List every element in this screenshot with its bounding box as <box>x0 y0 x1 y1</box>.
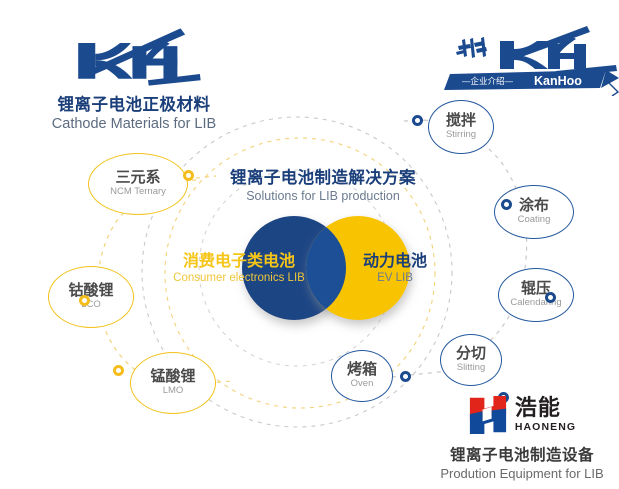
node-slitting-cn: 分切 <box>456 346 486 362</box>
node-coating-cn: 涂布 <box>519 198 549 214</box>
node-coating-en: Coating <box>518 215 551 225</box>
dot-materials-2 <box>79 295 90 306</box>
node-ncm-ternary[interactable]: 三元系 NCM Ternary <box>88 153 188 215</box>
node-slitting[interactable]: 分切 Slitting <box>440 334 502 386</box>
node-stirring[interactable]: 搅拌 Stirring <box>428 100 494 154</box>
node-slitting-en: Slitting <box>457 363 486 373</box>
kanhoo-logo-icon: —企业介绍— KanHoo <box>440 20 619 96</box>
kh-title-en: Cathode Materials for LIB <box>34 116 234 132</box>
node-calendaring[interactable]: 辊压 Calendaring <box>498 268 574 322</box>
kanhoo-ribbon-label: —企业介绍— <box>462 76 514 86</box>
node-lco[interactable]: 钴酸锂 LCO <box>48 266 134 328</box>
dot-process-5 <box>400 371 411 382</box>
node-oven-en: Oven <box>351 379 374 389</box>
haoneng-logo-icon <box>468 396 508 434</box>
node-oven-cn: 烤箱 <box>347 362 377 378</box>
node-ncm-cn: 三元系 <box>115 170 160 186</box>
haoneng-mark-cn: 浩能 <box>515 397 576 419</box>
haoneng-title-en: Prodution Equipment for LIB <box>432 466 612 481</box>
haoneng-mark-en: HAONENG <box>515 421 576 433</box>
dot-materials-3 <box>113 365 124 376</box>
slide-canvas: 锂离子电池正极材料 Cathode Materials for LIB <box>0 0 619 489</box>
venn-consumer-en: Consumer electronics LIB <box>164 272 314 284</box>
dot-process-2 <box>501 199 512 210</box>
dot-materials-1 <box>183 170 194 181</box>
dot-process-1 <box>412 115 423 126</box>
center-title-block: 锂离子电池制造解决方案 Solutions for LIB production <box>208 164 438 203</box>
node-lmo-cn: 锰酸锂 <box>150 369 195 385</box>
venn-label-ev: 动力电池 EV LIB <box>345 247 445 284</box>
center-title-en: Solutions for LIB production <box>208 189 438 203</box>
kh-title-cn: 锂离子电池正极材料 <box>34 91 234 115</box>
kanhoo-brand-name: KanHoo <box>534 74 582 88</box>
kanhoo-banner: —企业介绍— KanHoo <box>440 20 619 96</box>
kh-brand-block: 锂离子电池正极材料 Cathode Materials for LIB <box>34 26 234 132</box>
node-ncm-en: NCM Ternary <box>110 187 166 197</box>
venn-consumer-cn: 消费电子类电池 <box>164 247 314 271</box>
kh-logo-icon <box>64 26 204 88</box>
haoneng-title-cn: 锂离子电池制造设备 <box>432 443 612 465</box>
center-title-cn: 锂离子电池制造解决方案 <box>208 164 438 188</box>
venn-ev-en: EV LIB <box>345 272 445 284</box>
node-lco-cn: 钴酸锂 <box>68 283 113 299</box>
dot-process-3 <box>545 292 556 303</box>
node-lmo[interactable]: 锰酸锂 LMO <box>130 352 216 414</box>
node-oven[interactable]: 烤箱 Oven <box>331 350 393 402</box>
node-stirring-cn: 搅拌 <box>446 113 476 129</box>
venn-ev-cn: 动力电池 <box>345 247 445 271</box>
node-stirring-en: Stirring <box>446 130 476 140</box>
haoneng-brand-block: 浩能 HAONENG 锂离子电池制造设备 Prodution Equipment… <box>432 396 612 481</box>
node-coating[interactable]: 涂布 Coating <box>494 185 574 239</box>
node-lmo-en: LMO <box>163 386 184 396</box>
process-chain-path <box>424 120 527 358</box>
venn-label-consumer: 消费电子类电池 Consumer electronics LIB <box>164 247 314 284</box>
